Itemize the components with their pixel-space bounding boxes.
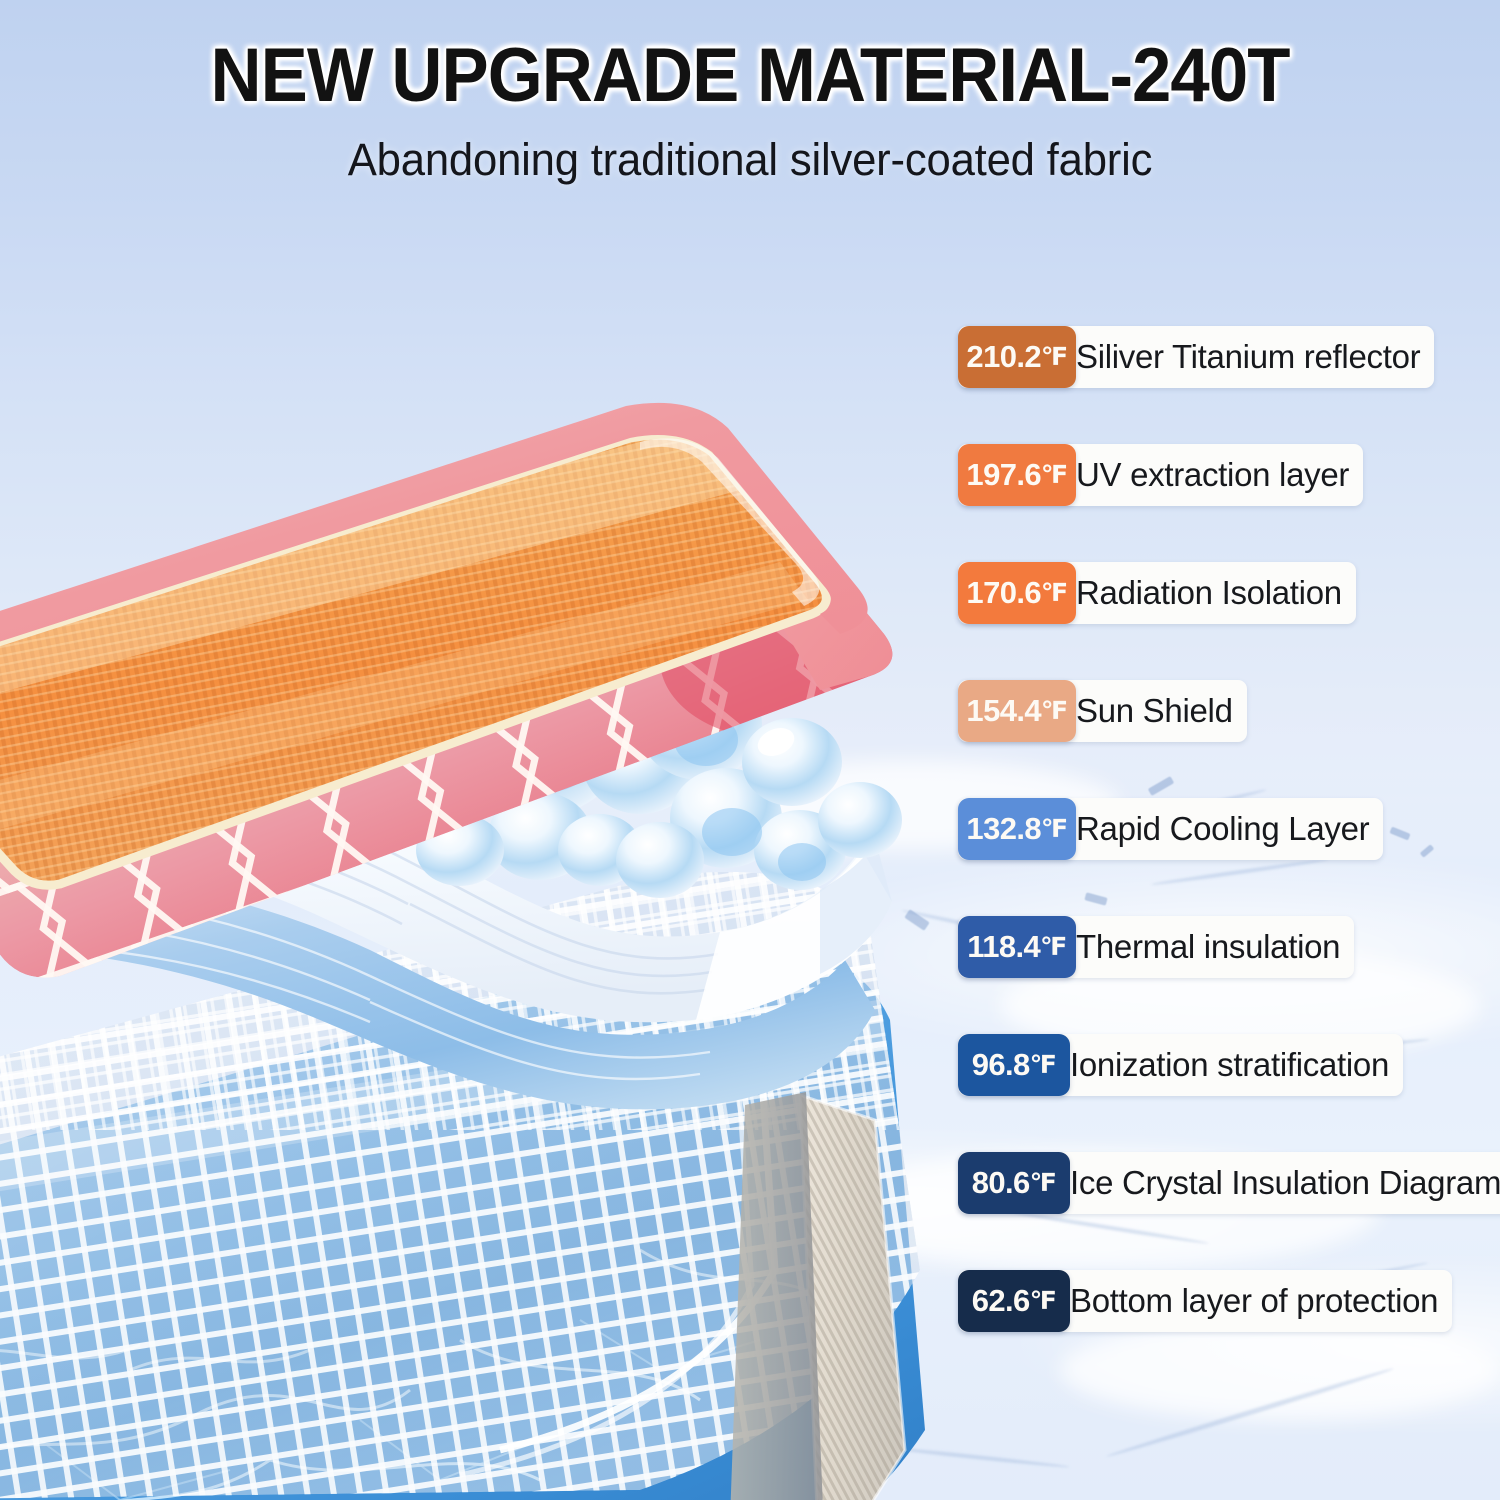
page-subtitle: Abandoning traditional silver-coated fab…: [23, 134, 1478, 186]
legend-panel-4: 154.4℉ Sun Shield: [958, 680, 1247, 742]
badge-temp-value: 170.6: [966, 575, 1041, 611]
temperature-badge-6: 118.4℉: [958, 916, 1076, 978]
legend-row-8: 80.6℉ Ice Crystal Insulation Diagram: [958, 1152, 1500, 1214]
page-title: NEW UPGRADE MATERIAL-240T: [53, 38, 1448, 114]
legend-label-1: Siliver Titanium reflector: [1076, 338, 1420, 376]
badge-unit: ℉: [1041, 460, 1068, 490]
legend-label-7: Ionization stratification: [1070, 1046, 1389, 1084]
legend-row-5: 132.8℉ Rapid Cooling Layer: [958, 798, 1383, 860]
badge-temp-value: 118.4: [967, 929, 1040, 965]
legend-row-1: 210.2℉ Siliver Titanium reflector: [958, 326, 1434, 388]
legend-label-2: UV extraction layer: [1076, 456, 1349, 494]
legend-label-8: Ice Crystal Insulation Diagram: [1070, 1164, 1500, 1202]
temperature-badge-8: 80.6℉: [958, 1152, 1070, 1214]
temperature-badge-7: 96.8℉: [958, 1034, 1070, 1096]
badge-temp-value: 80.6: [972, 1165, 1030, 1201]
badge-unit: ℉: [1030, 1050, 1057, 1080]
badge-unit: ℉: [1030, 1168, 1057, 1198]
badge-unit: ℉: [1041, 814, 1068, 844]
legend-label-9: Bottom layer of protection: [1070, 1282, 1438, 1320]
legend-panel-9: 62.6℉ Bottom layer of protection: [958, 1270, 1452, 1332]
temperature-badge-3: 170.6℉: [958, 562, 1076, 624]
badge-unit: ℉: [1041, 696, 1068, 726]
legend-panel-3: 170.6℉ Radiation Isolation: [958, 562, 1356, 624]
temperature-badge-2: 197.6℉: [958, 444, 1076, 506]
legend-panel-5: 132.8℉ Rapid Cooling Layer: [958, 798, 1383, 860]
badge-temp-value: 210.2: [966, 339, 1041, 375]
legend-label-6: Thermal insulation: [1076, 928, 1340, 966]
legend-label-3: Radiation Isolation: [1076, 574, 1342, 612]
poster-canvas: NEW UPGRADE MATERIAL-240T Abandoning tra…: [0, 0, 1500, 1500]
legend-label-5: Rapid Cooling Layer: [1076, 810, 1369, 848]
headline-block: NEW UPGRADE MATERIAL-240T Abandoning tra…: [0, 38, 1500, 186]
legend-panel-7: 96.8℉ Ionization stratification: [958, 1034, 1403, 1096]
legend-row-2: 197.6℉ UV extraction layer: [958, 444, 1363, 506]
layered-fabric-cutaway-illustration: [0, 190, 1000, 1500]
legend-panel-1: 210.2℉ Siliver Titanium reflector: [958, 326, 1434, 388]
legend-panel-8: 80.6℉ Ice Crystal Insulation Diagram: [958, 1152, 1500, 1214]
legend-row-3: 170.6℉ Radiation Isolation: [958, 562, 1356, 624]
badge-unit: ℉: [1040, 932, 1067, 962]
temperature-badge-5: 132.8℉: [958, 798, 1076, 860]
temperature-badge-9: 62.6℉: [958, 1270, 1070, 1332]
legend-row-9: 62.6℉ Bottom layer of protection: [958, 1270, 1452, 1332]
badge-temp-value: 154.4: [966, 693, 1041, 729]
legend-label-4: Sun Shield: [1076, 692, 1233, 730]
temperature-badge-4: 154.4℉: [958, 680, 1076, 742]
badge-unit: ℉: [1041, 578, 1068, 608]
badge-unit: ℉: [1030, 1286, 1057, 1316]
badge-unit: ℉: [1041, 342, 1068, 372]
legend-row-7: 96.8℉ Ionization stratification: [958, 1034, 1403, 1096]
badge-temp-value: 96.8: [972, 1047, 1030, 1083]
legend-row-4: 154.4℉ Sun Shield: [958, 680, 1247, 742]
legend-panel-2: 197.6℉ UV extraction layer: [958, 444, 1363, 506]
badge-temp-value: 62.6: [972, 1283, 1030, 1319]
temperature-badge-1: 210.2℉: [958, 326, 1076, 388]
legend-row-6: 118.4℉ Thermal insulation: [958, 916, 1354, 978]
legend-panel-6: 118.4℉ Thermal insulation: [958, 916, 1354, 978]
badge-temp-value: 132.8: [966, 811, 1041, 847]
badge-temp-value: 197.6: [966, 457, 1041, 493]
